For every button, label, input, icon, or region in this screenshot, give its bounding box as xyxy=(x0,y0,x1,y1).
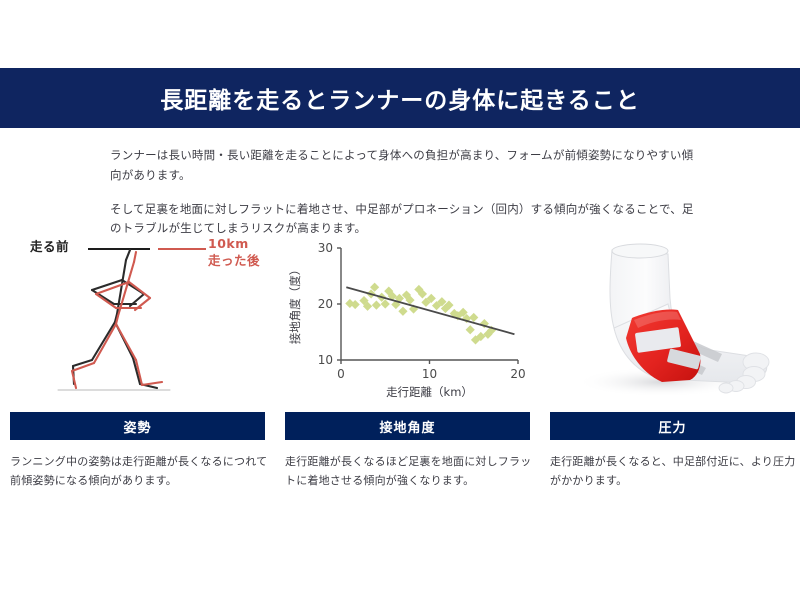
intro-paragraph-1: ランナーは長い時間・長い距離を走ることによって身体への負担が高まり、フォームが前… xyxy=(110,146,696,186)
runner-skeleton-svg xyxy=(10,232,265,402)
x-tick-label: 10 xyxy=(422,367,437,381)
y-tick-label: 20 xyxy=(318,297,333,311)
figure-foot-pressure xyxy=(550,232,795,402)
figures-row: 走る前 10km 走った後 xyxy=(0,232,800,402)
figure-running-pose: 走る前 10km 走った後 xyxy=(10,232,265,402)
scatter-point xyxy=(372,301,381,310)
x-tick-label: 20 xyxy=(510,367,525,381)
scatter-point xyxy=(398,307,407,316)
card-title-pressure: 圧力 xyxy=(550,412,795,440)
scatter-point xyxy=(466,325,475,334)
page-title: 長距離を走るとランナーの身体に起きること xyxy=(160,81,640,115)
card-title-posture: 姿勢 xyxy=(10,412,265,440)
scatter-point xyxy=(469,313,478,322)
figure-contact-angle-chart: 10203001020走行距離（km）接地角度（度） xyxy=(285,232,530,402)
trend-line xyxy=(346,287,514,334)
x-tick-label: 0 xyxy=(337,367,345,381)
leg-top-rim xyxy=(612,244,668,258)
slide-page: 長距離を走るとランナーの身体に起きること ランナーは長い時間・長い距離を走ること… xyxy=(0,0,800,600)
card-body-posture: ランニング中の姿勢は走行距離が長くなるにつれて前傾姿勢になる傾向があります。 xyxy=(10,452,268,491)
card-body-pressure: 走行距離が長くなると、中足部付近に、より圧力がかかります。 xyxy=(550,452,798,491)
card-title-contact-angle: 接地角度 xyxy=(285,412,530,440)
intro-text-block: ランナーは長い時間・長い距離を走ることによって身体への負担が高まり、フォームが前… xyxy=(110,146,696,239)
header-band: 長距離を走るとランナーの身体に起きること xyxy=(0,68,800,128)
foot-3d-svg xyxy=(550,232,795,402)
scatter-chart-svg: 10203001020走行距離（km）接地角度（度） xyxy=(285,232,530,402)
y-tick-label: 10 xyxy=(318,353,333,367)
y-tick-label: 30 xyxy=(318,241,333,255)
x-axis-label: 走行距離（km） xyxy=(386,385,473,399)
card-body-contact-angle: 走行距離が長くなるほど足裏を地面に対しフラットに着地させる傾向が強くなります。 xyxy=(285,452,533,491)
y-axis-label: 接地角度（度） xyxy=(288,264,302,345)
